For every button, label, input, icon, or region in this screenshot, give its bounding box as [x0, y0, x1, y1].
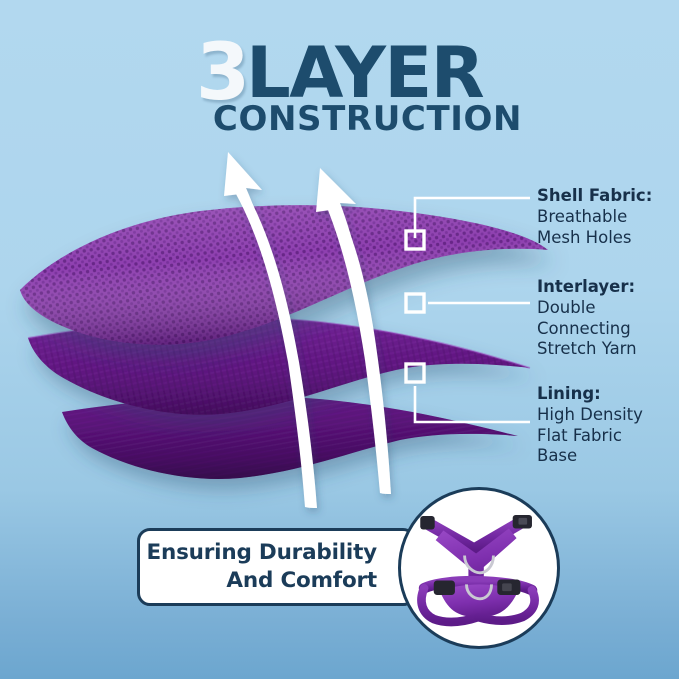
callout-lining-line3: Base [537, 446, 643, 467]
harness-buckle-top-left [420, 516, 434, 529]
tagline-text: Ensuring Durability And Comfort [140, 531, 391, 603]
tagline-line2: And Comfort [226, 567, 377, 595]
dog-harness-illustration [401, 490, 557, 646]
callout-lining-line1: High Density [537, 405, 643, 426]
marker-square-interlayer [406, 294, 424, 312]
callout-lining: Lining: High Density Flat Fabric Base [537, 384, 643, 467]
tagline-line1: Ensuring Durability [146, 539, 377, 567]
callout-lining-line2: Flat Fabric [537, 426, 643, 447]
callout-shell-line2: Mesh Holes [537, 228, 652, 249]
callout-interlayer-line3: Stretch Yarn [537, 339, 637, 360]
harness-buckle-slot-right [518, 518, 527, 525]
callout-shell-fabric: Shell Fabric: Breathable Mesh Holes [537, 186, 652, 248]
product-image-circle [398, 487, 560, 649]
callout-interlayer-line1: Double [537, 298, 637, 319]
callout-interlayer-line2: Connecting [537, 319, 637, 340]
callout-shell-line1: Breathable [537, 207, 652, 228]
callout-lining-heading: Lining: [537, 384, 643, 405]
callout-interlayer: Interlayer: Double Connecting Stretch Ya… [537, 277, 637, 360]
tagline-banner: Ensuring Durability And Comfort [137, 528, 416, 606]
callout-shell-heading: Shell Fabric: [537, 186, 652, 207]
lining-layer [62, 396, 518, 479]
harness-buckle-left [434, 581, 455, 595]
infographic-canvas: 3LAYER CONSTRUCTION [0, 0, 679, 679]
callout-interlayer-heading: Interlayer: [537, 277, 637, 298]
harness-buckle-slot-left [502, 583, 512, 591]
